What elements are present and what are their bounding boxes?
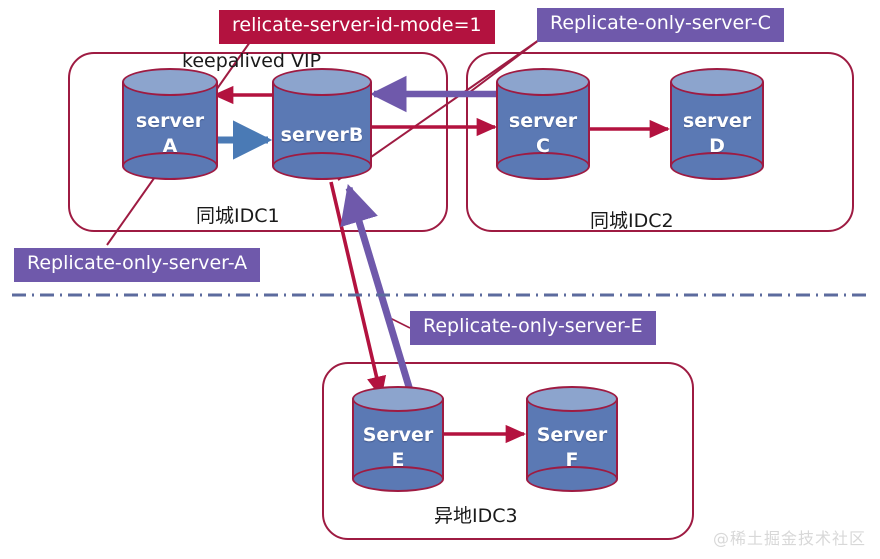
cylinder-bottom (272, 152, 372, 180)
server-node-e[interactable]: Server E (352, 386, 444, 494)
server-node-f[interactable]: Server F (526, 386, 618, 494)
tag-replicate-only-server-e[interactable]: Replicate-only-server-E (410, 311, 656, 345)
group-label-idc2: 同城IDC2 (590, 206, 674, 233)
cylinder-bottom (122, 152, 218, 180)
diagram-canvas: keepalived VIP 同城IDC1 同城IDC2 异地IDC3 serv… (0, 0, 880, 559)
cylinder-bottom (670, 152, 764, 180)
group-label-idc3: 异地IDC3 (434, 501, 518, 528)
cylinder-top (352, 386, 444, 412)
cylinder-top (122, 68, 218, 96)
cylinder-top (526, 386, 618, 412)
cylinder-bottom (496, 152, 590, 180)
watermark: @稀土掘金技术社区 (713, 525, 866, 549)
tag-replicate-only-server-a[interactable]: Replicate-only-server-A (14, 248, 260, 282)
cylinder-top (496, 68, 590, 96)
server-node-a[interactable]: server A (122, 68, 218, 182)
server-node-d[interactable]: server D (670, 68, 764, 182)
cylinder-bottom (352, 466, 444, 492)
cylinder-top (670, 68, 764, 96)
cylinder-top (272, 68, 372, 96)
cylinder-bottom (526, 466, 618, 492)
group-label-idc1: 同城IDC1 (196, 201, 280, 228)
tag-replicate-only-server-c[interactable]: Replicate-only-server-C (537, 8, 784, 42)
tag-relicate-server-id-mode[interactable]: relicate-server-id-mode=1 (219, 10, 495, 44)
server-node-b[interactable]: serverB (272, 68, 372, 182)
server-node-c[interactable]: server C (496, 68, 590, 182)
